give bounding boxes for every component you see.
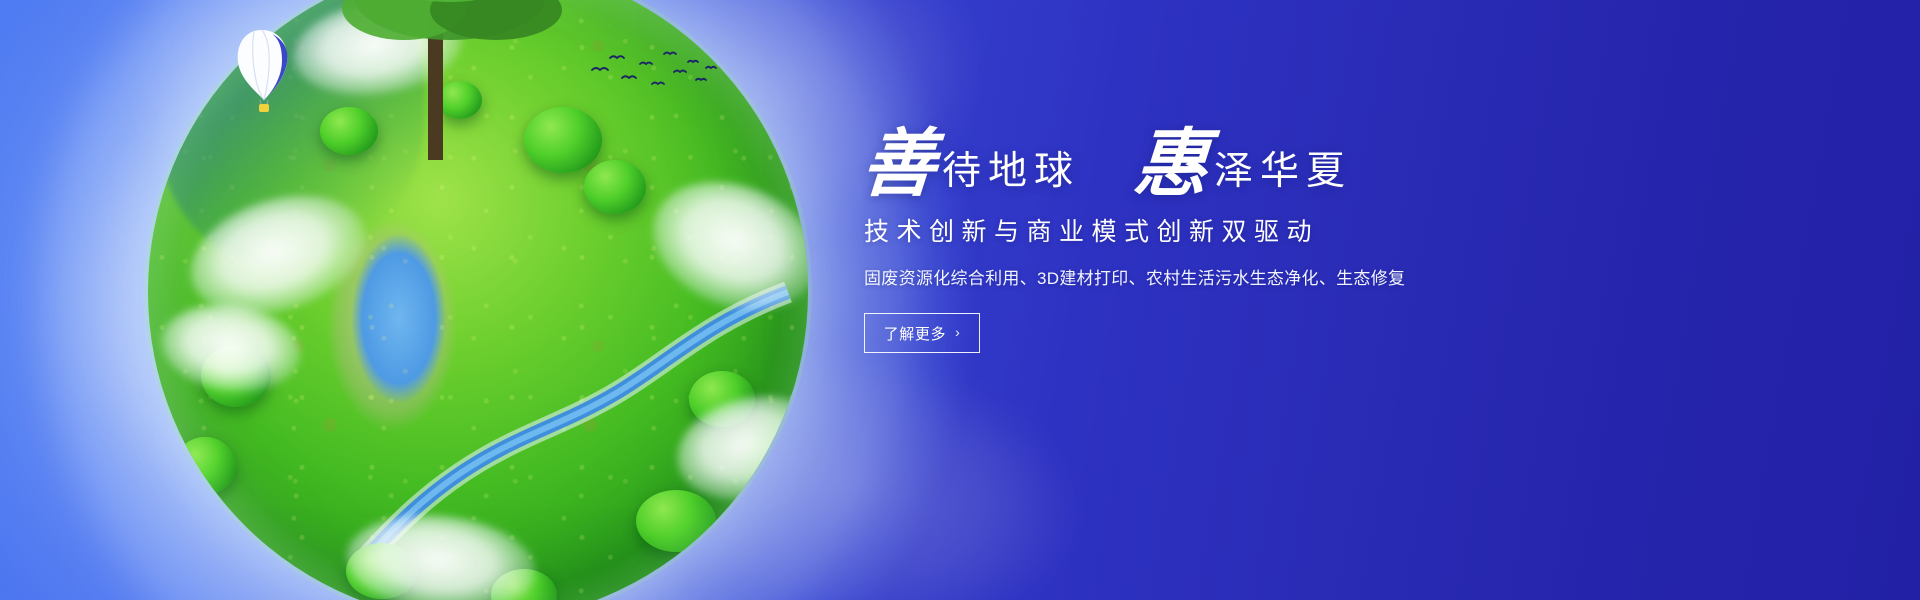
birds-icon (588, 44, 718, 94)
tree-cluster (636, 490, 716, 552)
page-description: 固废资源化综合利用、3D建材打印、农村生活污水生态净化、生态修复 (864, 264, 1622, 289)
tree-cluster (584, 160, 646, 214)
page-subtitle: 技术创新与商业模式创新双驱动 (864, 212, 1622, 248)
headline-brush-char-2: 惠 (1132, 130, 1211, 198)
hot-air-balloon-icon (232, 28, 292, 120)
chevron-right-icon: › (955, 325, 960, 339)
headline-rest-2: 泽华夏 (1208, 152, 1352, 198)
hero-banner: 善 待地球 惠 泽华夏 技术创新与商业模式创新双驱动 固废资源化综合利用、3D建… (0, 0, 1920, 600)
hero-copy: 善 待地球 惠 泽华夏 技术创新与商业模式创新双驱动 固废资源化综合利用、3D建… (862, 130, 1622, 353)
learn-more-label: 了解更多 (884, 323, 946, 344)
page-title: 善 待地球 惠 泽华夏 (862, 130, 1622, 198)
tree-icon (300, 0, 580, 160)
learn-more-button[interactable]: 了解更多 › (864, 313, 980, 353)
headline-rest-1: 待地球 (936, 152, 1080, 198)
headline-brush-char-1: 善 (860, 130, 939, 198)
